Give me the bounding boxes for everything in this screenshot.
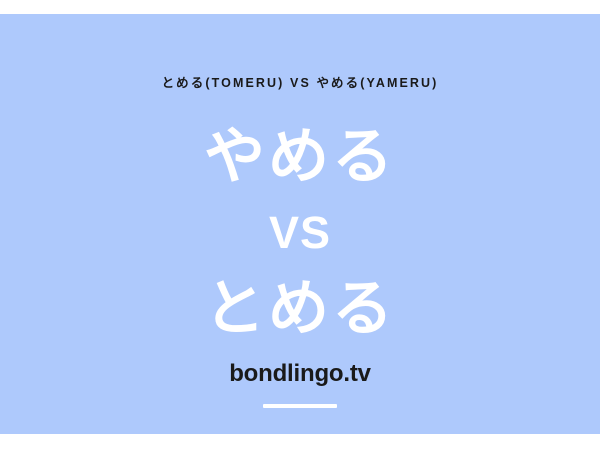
- lesson-title-card: とめる(TOMERU) VS やめる(YAMERU) やめる VS とめる bo…: [0, 0, 600, 450]
- brand-name-bondlingo: bondlingo.tv: [0, 360, 600, 388]
- headline-line-tomeru: とめる: [0, 270, 600, 348]
- topic-eyebrow-text: とめる(TOMERU) VS やめる(YAMERU): [0, 74, 600, 92]
- headline-line-vs: VS: [0, 196, 600, 270]
- headline-line-yameru: やめる: [0, 118, 600, 196]
- decorative-divider-rule: [263, 404, 337, 408]
- headline-block: やめる VS とめる: [0, 118, 600, 348]
- blue-background-panel: とめる(TOMERU) VS やめる(YAMERU) やめる VS とめる bo…: [0, 14, 600, 434]
